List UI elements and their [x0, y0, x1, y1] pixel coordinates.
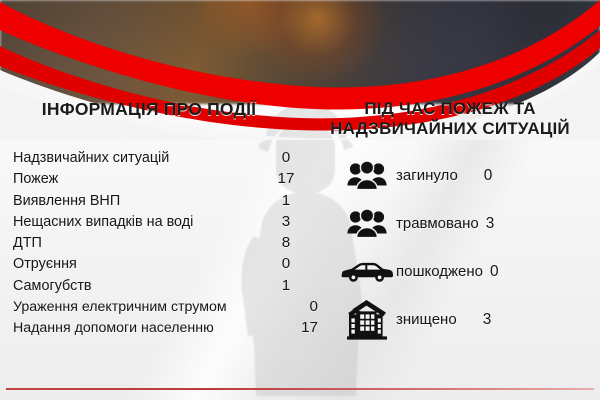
stat-value: 1	[263, 192, 299, 209]
poster-content: ІНФОРМАЦІЯ ПРО ПОДІЇ Надзвичайних ситуац…	[0, 0, 600, 400]
right-panel-title-line2: НАДЗВИЧАЙНИХ СИТУАЦІЙ	[302, 119, 598, 139]
car-icon	[338, 260, 396, 284]
stat-label: Надзвичайних ситуацій	[13, 150, 169, 166]
icon-value: 0	[458, 167, 493, 185]
icon-label: пошкоджено	[396, 263, 483, 280]
list-item: знищено 3	[338, 296, 600, 344]
bottom-divider	[6, 388, 594, 390]
stat-label: Отруєння	[13, 256, 77, 272]
stat-label: Нещасних випадків на воді	[13, 214, 193, 230]
people-group-icon	[338, 209, 396, 239]
icon-row-text: пошкоджено 0	[396, 263, 499, 281]
list-item: травмовано 3	[338, 200, 600, 248]
stat-label: ДТП	[13, 235, 42, 251]
building-icon	[338, 299, 396, 341]
stat-row: Самогубств 1	[13, 277, 299, 298]
icon-label: знищено	[396, 311, 457, 328]
stat-value: 17	[291, 319, 318, 336]
infographic-poster: ІНФОРМАЦІЯ ПРО ПОДІЇ Надзвичайних ситуац…	[0, 0, 600, 400]
icon-row-text: загинуло 0	[396, 167, 492, 185]
stat-label: Ураження електричним струмом	[13, 299, 227, 315]
right-panel-title-line1: ПІД ЧАС ПОЖЕЖ ТА	[302, 99, 598, 119]
icon-row-text: травмовано 3	[396, 215, 494, 233]
stat-label: Самогубств	[13, 278, 92, 294]
stat-value: 3	[263, 213, 299, 230]
people-group-icon	[338, 161, 396, 191]
stat-row: Надзвичайних ситуацій 0	[13, 149, 299, 170]
stat-value: 0	[300, 298, 318, 315]
stat-row: Надання допомоги населенню 17	[13, 319, 318, 340]
events-statistics-list: Надзвичайних ситуацій 0 Пожеж 17 Виявлен…	[13, 149, 299, 341]
stat-value: 0	[263, 255, 299, 272]
stat-label: Надання допомоги населенню	[13, 320, 214, 336]
stat-value: 1	[263, 277, 299, 294]
stat-row: Виявлення ВНП 1	[13, 192, 299, 213]
stat-row: ДТП 8	[13, 234, 299, 255]
icon-label: загинуло	[396, 167, 458, 184]
stat-row: Ураження електричним струмом 0	[13, 298, 318, 319]
stat-row: Отруєння 0	[13, 255, 299, 276]
stat-label: Пожеж	[13, 171, 58, 187]
stat-row: Пожеж 17	[13, 170, 299, 191]
icon-row-text: знищено 3	[396, 311, 491, 329]
stat-row: Нещасних випадків на воді 3	[13, 213, 299, 234]
left-panel-title: ІНФОРМАЦІЯ ПРО ПОДІЇ	[4, 99, 294, 119]
stat-label: Виявлення ВНП	[13, 193, 120, 209]
icon-value: 3	[457, 311, 492, 329]
list-item: загинуло 0	[338, 152, 600, 200]
icon-label: травмовано	[396, 215, 479, 232]
stat-value: 8	[263, 234, 299, 251]
stat-value: 0	[263, 149, 299, 166]
stat-value: 17	[263, 170, 299, 187]
list-item: пошкоджено 0	[338, 248, 600, 296]
icon-value: 0	[483, 263, 499, 281]
icon-value: 3	[479, 215, 495, 233]
casualties-damage-list: загинуло 0	[338, 152, 600, 344]
right-panel-title: ПІД ЧАС ПОЖЕЖ ТА НАДЗВИЧАЙНИХ СИТУАЦІЙ	[302, 99, 598, 138]
